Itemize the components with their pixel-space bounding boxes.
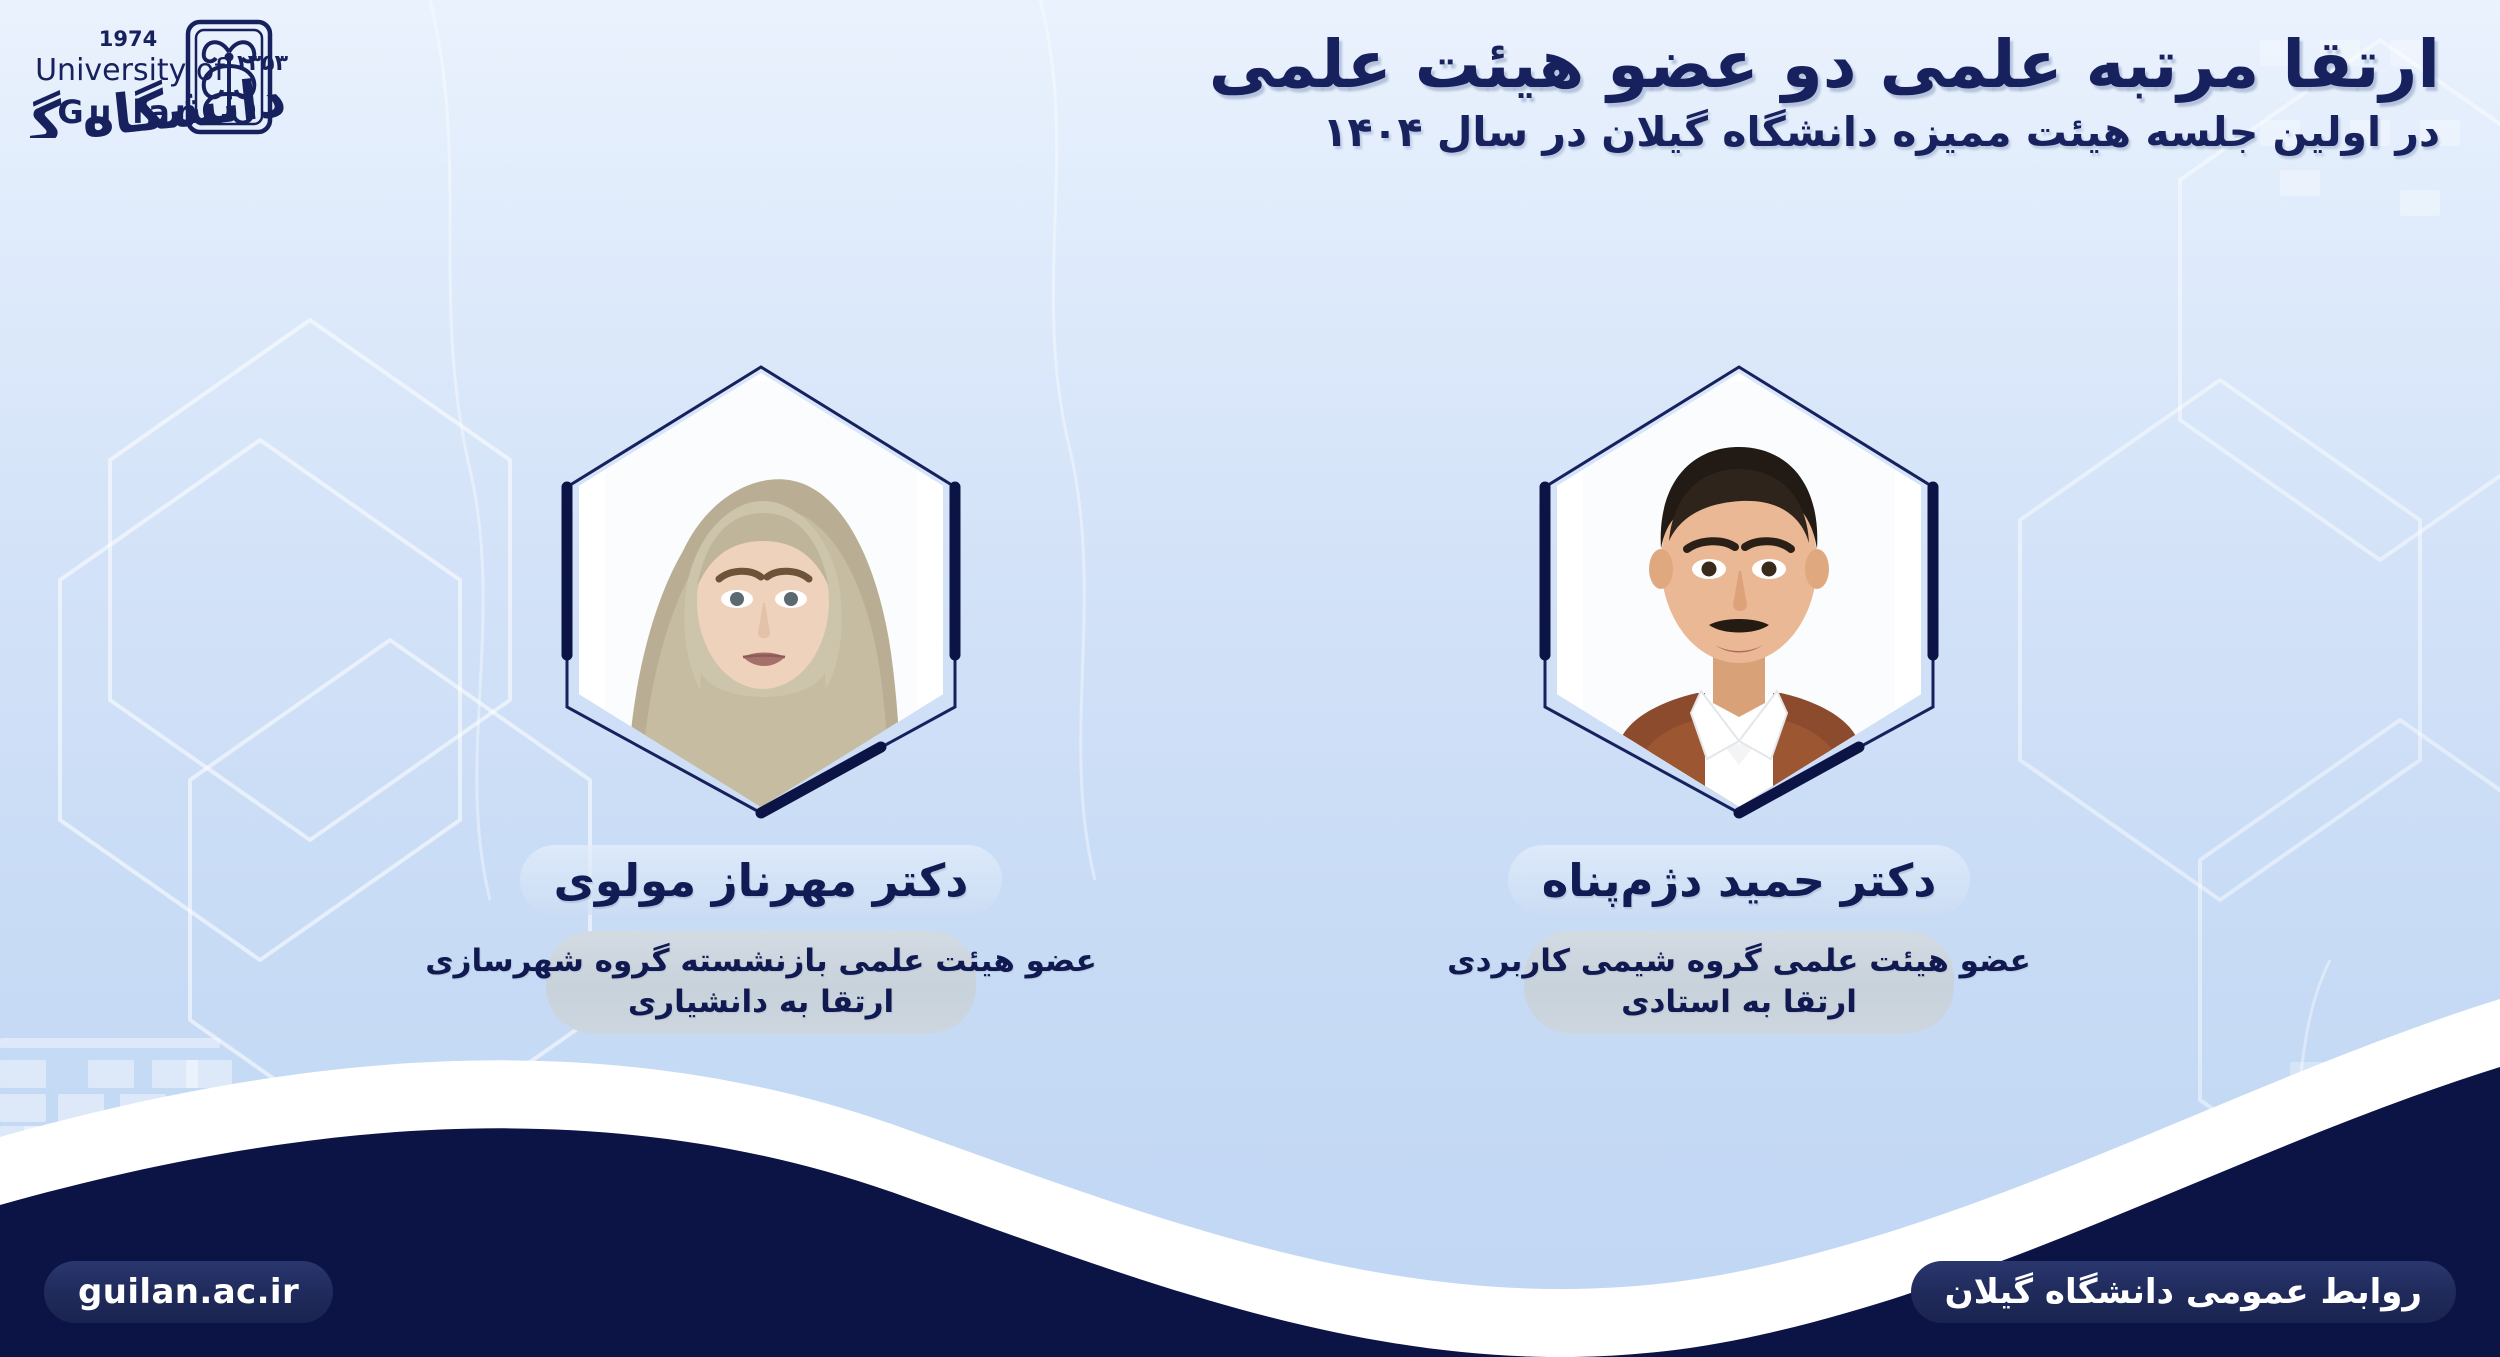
hex-photo-frame — [1529, 355, 1949, 825]
website-badge[interactable]: guilan.ac.ir — [44, 1261, 333, 1323]
website-label: guilan.ac.ir — [78, 1272, 299, 1312]
person-name-pill: دکتر مهرناز مولوی — [516, 841, 1007, 919]
hex-outline-icon — [551, 355, 971, 825]
hex-outline-icon — [1529, 355, 1949, 825]
person-card-hamid-dezhampanah: دکتر حمید دژم‌پناه عضو هیئت علمی گروه شی… — [1459, 355, 2019, 1033]
logo-icon: 1974 University of Guilan ۱۳۵۳ دانشگاه گ… — [30, 8, 480, 138]
poster-canvas: 1974 University of Guilan ۱۳۵۳ دانشگاه گ… — [0, 0, 2500, 1357]
person-name: دکتر حمید دژم‌پناه — [1542, 854, 1937, 907]
page-title: ارتقا مرتبه علمی دو عضو هیئت علمی — [1120, 28, 2440, 102]
bg-square — [2400, 190, 2440, 216]
person-name: دکتر مهرناز مولوی — [554, 854, 969, 907]
university-logo: 1974 University of Guilan ۱۳۵۳ دانشگاه گ… — [30, 8, 480, 138]
bg-square — [2280, 170, 2320, 196]
person-card-mehrnaz-molavi: دکتر مهرناز مولوی عضو هیئت علمی بازنشسته… — [481, 355, 1041, 1033]
logo-year-en-text: 1974 — [99, 27, 157, 51]
person-name-pill: دکتر حمید دژم‌پناه — [1504, 841, 1975, 919]
hex-photo-frame — [551, 355, 971, 825]
page-subtitle: در اولین جلسه هیئت ممیزه دانشگاه گیلان د… — [1120, 108, 2440, 157]
public-relations-badge[interactable]: روابط عمومی دانشگاه گیلان — [1911, 1261, 2456, 1323]
public-relations-label: روابط عمومی دانشگاه گیلان — [1945, 1272, 2422, 1312]
header-titles: ارتقا مرتبه علمی دو عضو هیئت علمی در اول… — [1120, 28, 2440, 157]
